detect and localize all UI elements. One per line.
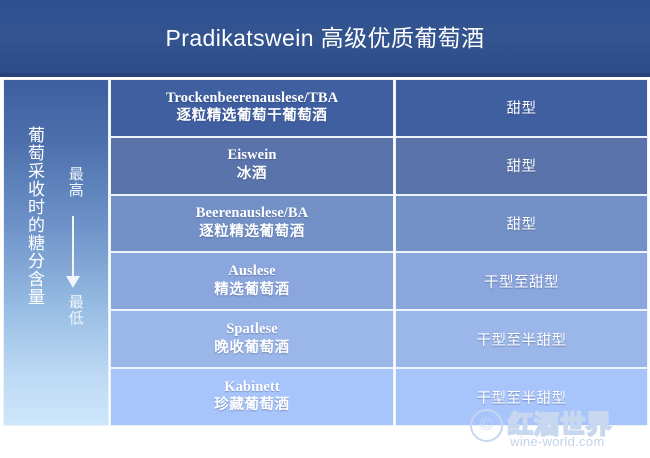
table-row: Trockenbeerenauslese/TBA 逐粒精选葡萄干葡萄酒 甜型 bbox=[110, 79, 648, 137]
wine-name-de: Auslese bbox=[228, 263, 275, 280]
axis-arrow-group: 最高 最低 bbox=[56, 166, 90, 351]
axis-top-label: 最高 bbox=[65, 166, 84, 198]
table-row: Kabinett 珍藏葡萄酒 干型至半甜型 bbox=[110, 368, 648, 426]
wine-style-cell: 干型至甜型 bbox=[395, 252, 648, 310]
header-divider-rule bbox=[0, 73, 650, 77]
watermark-url: wine-world.com bbox=[510, 434, 605, 449]
wine-name-cell: Spatlese 晚收葡萄酒 bbox=[110, 310, 394, 368]
wine-name-zh: 逐粒精选葡萄酒 bbox=[199, 223, 305, 242]
table-row: Eiswein 冰酒 甜型 bbox=[110, 137, 648, 195]
axis-bottom-label: 最低 bbox=[65, 294, 84, 326]
wine-name-zh: 珍藏葡萄酒 bbox=[214, 396, 290, 415]
wine-name-zh: 逐粒精选葡萄干葡萄酒 bbox=[177, 107, 328, 126]
wine-style-cell: 干型至半甜型 bbox=[395, 368, 648, 426]
wine-style-cell: 甜型 bbox=[395, 137, 648, 195]
wine-name-zh: 精选葡萄酒 bbox=[214, 281, 290, 300]
table-row: Auslese 精选葡萄酒 干型至甜型 bbox=[110, 252, 648, 310]
axis-main-label: 葡萄采收时的糖分含量 bbox=[18, 126, 46, 306]
table-rows: Trockenbeerenauslese/TBA 逐粒精选葡萄干葡萄酒 甜型 E… bbox=[110, 79, 648, 426]
wine-name-cell: Beerenauslese/BA 逐粒精选葡萄酒 bbox=[110, 195, 394, 253]
wine-classification-table: 葡萄采收时的糖分含量 最高 最低 Trockenbeerenauslese/TB… bbox=[3, 79, 648, 426]
table-row: Beerenauslese/BA 逐粒精选葡萄酒 甜型 bbox=[110, 195, 648, 253]
wine-style-cell: 甜型 bbox=[395, 79, 648, 137]
wine-name-cell: Auslese 精选葡萄酒 bbox=[110, 252, 394, 310]
wine-name-de: Eiswein bbox=[227, 147, 276, 164]
table-row: Spatlese 晚收葡萄酒 干型至半甜型 bbox=[110, 310, 648, 368]
down-arrow-icon bbox=[72, 216, 74, 278]
wine-name-de: Beerenauslese/BA bbox=[196, 205, 309, 222]
wine-name-de: Kabinett bbox=[224, 379, 280, 396]
wine-name-zh: 晚收葡萄酒 bbox=[214, 339, 290, 358]
slide-root: Pradikatswein 高级优质葡萄酒 葡萄采收时的糖分含量 最高 最低 T… bbox=[0, 0, 650, 458]
wine-name-cell: Eiswein 冰酒 bbox=[110, 137, 394, 195]
wine-name-cell: Trockenbeerenauslese/TBA 逐粒精选葡萄干葡萄酒 bbox=[110, 79, 394, 137]
header-band: Pradikatswein 高级优质葡萄酒 bbox=[0, 0, 650, 77]
wine-name-cell: Kabinett 珍藏葡萄酒 bbox=[110, 368, 394, 426]
wine-style-cell: 甜型 bbox=[395, 195, 648, 253]
page-title: Pradikatswein 高级优质葡萄酒 bbox=[0, 19, 650, 53]
wine-name-de: Spatlese bbox=[226, 321, 278, 338]
wine-name-de: Trockenbeerenauslese/TBA bbox=[166, 90, 338, 107]
wine-style-cell: 干型至半甜型 bbox=[395, 310, 648, 368]
wine-name-zh: 冰酒 bbox=[237, 165, 267, 184]
sugar-level-axis-panel: 葡萄采收时的糖分含量 最高 最低 bbox=[3, 79, 109, 426]
down-arrow-head-icon bbox=[66, 276, 80, 288]
